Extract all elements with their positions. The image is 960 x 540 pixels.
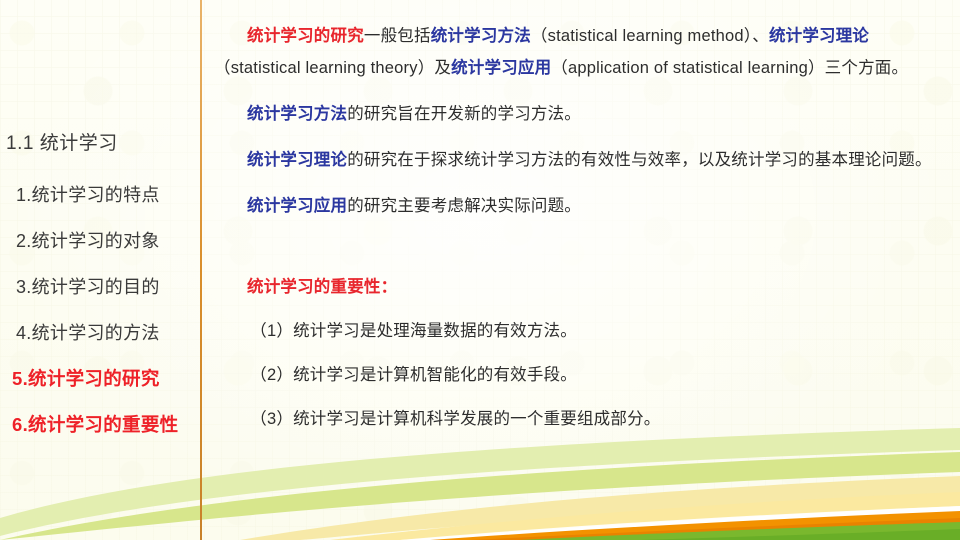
- lead-text-1: 一般包括: [364, 27, 431, 45]
- sidebar-item-purpose[interactable]: 3.统计学习的目的: [0, 264, 200, 310]
- paragraph-method: 统计学习方法的研究旨在开发新的学习方法。: [214, 98, 952, 130]
- importance-item-1: （1）统计学习是处理海量数据的有效方法。: [214, 316, 952, 346]
- importance-list: （1）统计学习是处理海量数据的有效方法。 （2）统计学习是计算机智能化的有效手段…: [214, 316, 952, 434]
- paragraph-theory-text: 的研究在于探求统计学习方法的有效性与效率，以及统计学习的基本理论问题。: [347, 151, 932, 169]
- content-area: 统计学习的研究一般包括统计学习方法（statistical learning m…: [214, 0, 952, 540]
- keyword-theory: 统计学习理论: [769, 27, 869, 45]
- keyword-application: 统计学习应用: [451, 59, 551, 77]
- keyword-method: 统计学习方法: [431, 27, 531, 45]
- sidebar-item-object[interactable]: 2.统计学习的对象: [0, 218, 200, 264]
- sidebar-item-research[interactable]: 5.统计学习的研究: [0, 356, 200, 402]
- paragraph-application-text: 的研究主要考虑解决实际问题。: [347, 197, 581, 215]
- sidebar: 1.1 统计学习 1.统计学习的特点 2.统计学习的对象 3.统计学习的目的 4…: [0, 0, 200, 540]
- sidebar-item-importance[interactable]: 6.统计学习的重要性: [0, 402, 200, 448]
- importance-heading: 统计学习的重要性：: [214, 272, 952, 302]
- importance-item-2: （2）统计学习是计算机智能化的有效手段。: [214, 360, 952, 390]
- lead-text-4: （application of statistical learning）三个方…: [551, 59, 908, 77]
- importance-item-3: （3）统计学习是计算机科学发展的一个重要组成部分。: [214, 404, 952, 434]
- slide-canvas: 1.1 统计学习 1.统计学习的特点 2.统计学习的对象 3.统计学习的目的 4…: [0, 0, 960, 540]
- lead-text-3: （statistical learning theory）及: [214, 59, 451, 77]
- sidebar-item-characteristics[interactable]: 1.统计学习的特点: [0, 172, 200, 218]
- paragraph-method-text: 的研究旨在开发新的学习方法。: [347, 105, 581, 123]
- lead-paragraph: 统计学习的研究一般包括统计学习方法（statistical learning m…: [214, 20, 952, 84]
- sidebar-nav-list: 1.统计学习的特点 2.统计学习的对象 3.统计学习的目的 4.统计学习的方法 …: [0, 172, 200, 448]
- keyword-research: 统计学习的研究: [247, 27, 364, 45]
- keyword-method-inline: 统计学习方法: [247, 105, 347, 123]
- keyword-theory-inline: 统计学习理论: [247, 151, 347, 169]
- lead-text-2: （statistical learning method）、: [531, 27, 769, 45]
- sidebar-title: 1.1 统计学习: [6, 128, 118, 155]
- paragraph-application: 统计学习应用的研究主要考虑解决实际问题。: [214, 190, 952, 222]
- keyword-application-inline: 统计学习应用: [247, 197, 347, 215]
- vertical-divider: [200, 0, 202, 540]
- sidebar-item-method[interactable]: 4.统计学习的方法: [0, 310, 200, 356]
- paragraph-theory: 统计学习理论的研究在于探求统计学习方法的有效性与效率，以及统计学习的基本理论问题…: [214, 144, 952, 176]
